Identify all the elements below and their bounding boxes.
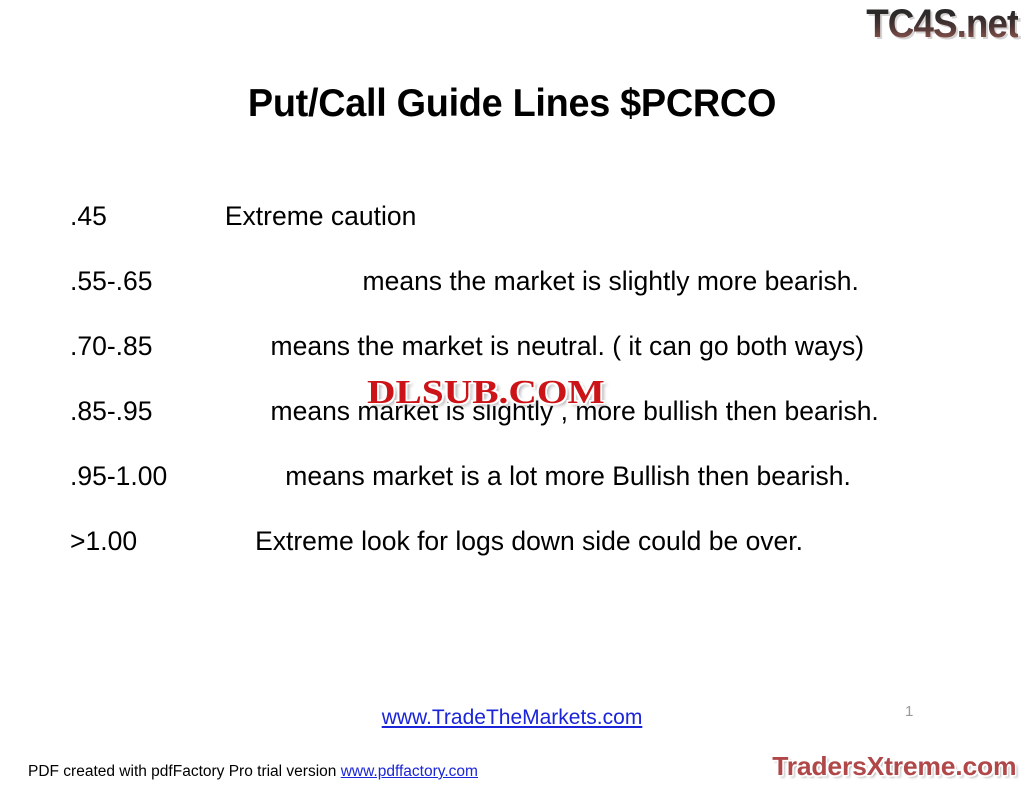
guideline-description: Extreme look for logs down side could be…: [255, 526, 803, 556]
guideline-description: means the market is neutral. ( it can go…: [271, 331, 865, 361]
guideline-row: .95-1.00means market is a lot more Bulli…: [70, 458, 970, 495]
guideline-row: .45Extreme caution: [70, 198, 970, 235]
pdffactory-link[interactable]: www.pdffactory.com: [341, 763, 478, 780]
guideline-description: means market is a lot more Bullish then …: [285, 461, 851, 491]
page-title: Put/Call Guide Lines $PCRCO: [15, 80, 1008, 128]
trade-the-markets-link[interactable]: www.TradeTheMarkets.com: [382, 706, 643, 729]
guideline-range: .95-1.00: [70, 461, 167, 491]
guideline-row: .55-.65means the market is slightly more…: [70, 263, 970, 300]
guideline-range: .55-.65: [70, 266, 153, 296]
guideline-row: .70-.85means the market is neutral. ( it…: [70, 328, 970, 365]
page-number: 1: [905, 703, 913, 721]
pdf-trial-notice: PDF created with pdfFactory Pro trial ve…: [28, 762, 478, 782]
guideline-range: .85-.95: [70, 396, 153, 426]
tc4s-brand-logo: TC4S.net: [866, 2, 1018, 46]
tradersxtreme-logo: TradersXtreme.com: [772, 750, 1016, 782]
footer-site-link-container: www.TradeTheMarkets.com: [0, 705, 1024, 731]
guideline-description: Extreme caution: [225, 201, 416, 231]
guideline-range: .45: [70, 201, 107, 231]
guideline-description: means the market is slightly more bearis…: [363, 266, 859, 296]
guideline-row: >1.00Extreme look for logs down side cou…: [70, 523, 970, 560]
slide-canvas: TC4S.net TC4S.net Put/Call Guide Lines $…: [0, 0, 1024, 791]
guideline-range: .70-.85: [70, 331, 153, 361]
guideline-range: >1.00: [70, 526, 137, 556]
dlsub-watermark: DLSUB.COM: [367, 374, 605, 412]
pdf-trial-notice-text: PDF created with pdfFactory Pro trial ve…: [28, 763, 341, 780]
